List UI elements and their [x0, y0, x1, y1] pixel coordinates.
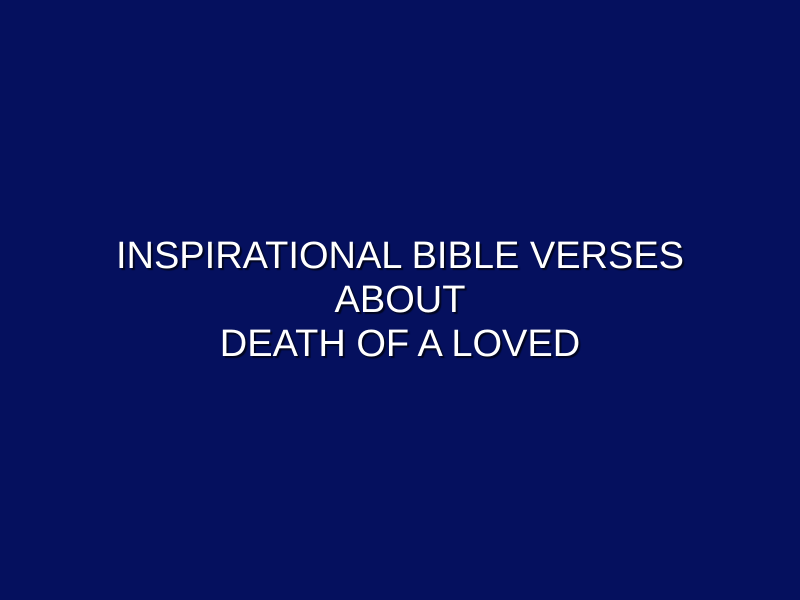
page-title: INSPIRATIONAL BIBLE VERSES ABOUT DEATH O… — [70, 234, 730, 366]
title-card: INSPIRATIONAL BIBLE VERSES ABOUT DEATH O… — [0, 0, 800, 600]
title-text-block: INSPIRATIONAL BIBLE VERSES ABOUT DEATH O… — [70, 234, 730, 366]
